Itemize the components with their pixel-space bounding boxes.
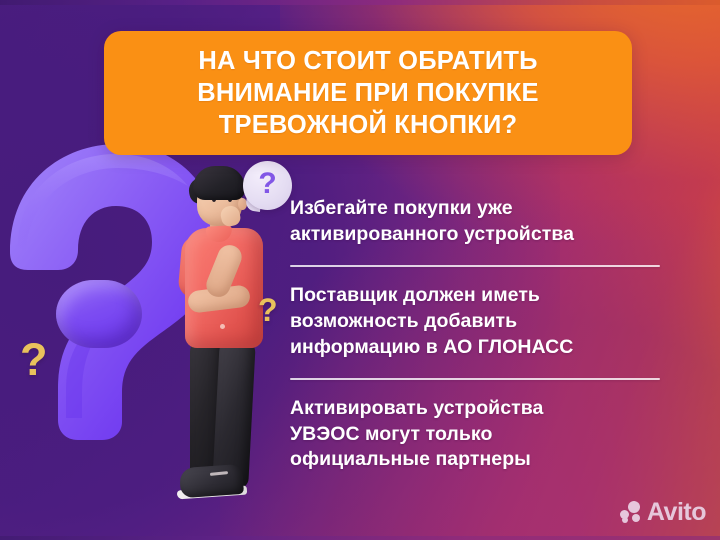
character-illustration: [166, 166, 288, 516]
avito-logo-mark-icon: [620, 501, 642, 523]
small-question-mark-icon-left: ?: [20, 334, 48, 386]
headline-title: НА ЧТО СТОИТ ОБРАТИТЬ ВНИМАНИЕ ПРИ ПОКУП…: [183, 45, 553, 141]
headline-banner: НА ЧТО СТОИТ ОБРАТИТЬ ВНИМАНИЕ ПРИ ПОКУП…: [104, 31, 632, 155]
bullet-divider-2: [290, 378, 660, 380]
bullet-list: Избегайте покупки уже активированного ус…: [290, 196, 668, 473]
small-question-mark-icon-middle: ?: [258, 292, 278, 329]
bottom-edge-line: [0, 536, 720, 540]
bullet-divider-1: [290, 265, 660, 267]
top-edge-line: [0, 0, 720, 5]
speech-bubble-icon: ?: [243, 161, 292, 210]
poster: ? ? ? НА ЧТО СТОИТ ОБРАТИТЬ ВНИМА: [0, 0, 720, 540]
avito-logo-wordmark: Avito: [647, 500, 706, 525]
avito-logo: Avito: [620, 497, 706, 527]
bullet-item-2: Поставщик должен иметь возможность добав…: [290, 283, 668, 361]
question-mark-dot: [56, 280, 142, 348]
bullet-item-3: Активировать устройства УВЭОС могут толь…: [290, 396, 668, 474]
bullet-item-1: Избегайте покупки уже активированного ус…: [290, 196, 668, 248]
speech-bubble-question-mark: ?: [243, 161, 292, 210]
